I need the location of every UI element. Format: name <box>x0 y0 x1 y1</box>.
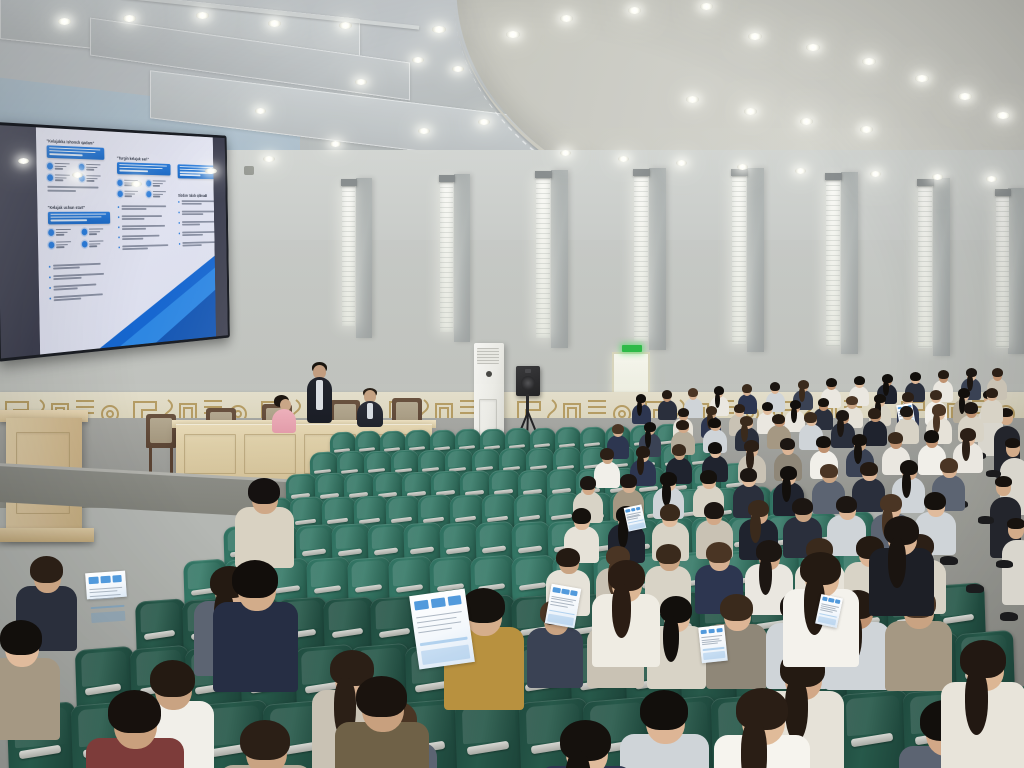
ceiling-downlight <box>560 150 571 156</box>
ceiling-downlight <box>748 33 762 40</box>
projection-display[interactable]: "Kelajakka ishonch qadam" "Kelajak uchun… <box>0 122 230 362</box>
wall-pier <box>454 174 470 342</box>
ac-control-knob[interactable] <box>486 371 492 377</box>
ceiling-downlight <box>255 108 266 114</box>
speaker-cone-icon <box>521 376 535 390</box>
window <box>732 176 746 344</box>
ceiling-downlight <box>676 160 687 166</box>
ceiling-downlight <box>700 3 713 10</box>
information-brochure <box>409 588 475 669</box>
presentation-slide: "Kelajakka ishonch qadam" "Kelajak uchun… <box>36 127 216 354</box>
shoe <box>1000 612 1018 621</box>
ceiling-downlight <box>263 156 275 162</box>
ceiling-downlight <box>996 112 1010 119</box>
ceiling-downlight <box>205 168 217 174</box>
shoe <box>940 556 958 565</box>
ceiling-downlight <box>958 93 972 100</box>
ceiling-downlight <box>560 15 573 22</box>
ceiling-downlight <box>932 174 943 180</box>
ceiling-downlight <box>506 31 520 38</box>
ceiling-downlight <box>412 57 424 63</box>
window-blind-header <box>535 171 552 178</box>
ceiling-downlight <box>330 141 341 147</box>
shoe <box>996 560 1013 568</box>
shoe <box>986 470 1001 477</box>
wall-pier <box>747 168 764 352</box>
slide-callout-box <box>47 145 105 160</box>
window-blind-header <box>341 179 357 186</box>
display-bezel: "Kelajakka ishonch qadam" "Kelajak uchun… <box>0 122 230 362</box>
ceiling-downlight <box>123 15 136 22</box>
ceiling-downlight <box>355 79 367 85</box>
ceiling-downlight <box>800 118 813 125</box>
ceiling-downlight <box>862 58 876 65</box>
display-panel: "Kelajakka ishonch qadam" "Kelajak uchun… <box>0 125 228 359</box>
ceiling-downlight <box>452 66 464 72</box>
ceiling-downlight <box>131 181 142 187</box>
slide-callout-box <box>48 212 110 225</box>
wall-pier <box>551 170 568 348</box>
information-brochure <box>698 625 728 664</box>
window-blind-header <box>917 179 934 186</box>
exit-sign-icon <box>622 345 642 352</box>
ceiling-downlight <box>196 12 209 19</box>
window <box>342 186 355 326</box>
wall-pier <box>1008 188 1024 354</box>
ceiling-downlight <box>860 126 873 133</box>
pa-speaker <box>516 366 540 396</box>
shoe <box>978 516 994 524</box>
ceiling-downlight <box>737 164 748 170</box>
slide-section-heading: "Kelajakka ishonch qadam" <box>46 138 94 145</box>
ceiling-downlight <box>418 128 430 134</box>
ceiling-downlight <box>744 108 757 115</box>
slide-corner-graphic <box>98 256 216 349</box>
information-brochure <box>85 571 127 600</box>
slide-callout-box <box>117 162 171 175</box>
ceiling-downlight <box>618 156 629 162</box>
ceiling-downlight <box>432 26 446 33</box>
slide-section-heading: "Turgin kelajak sari" <box>117 156 149 162</box>
window <box>918 186 932 348</box>
ceiling-downlight <box>986 176 997 182</box>
ceiling-downlight <box>339 22 352 29</box>
ceiling-downlight <box>915 75 929 82</box>
wall-pier <box>841 172 858 354</box>
window-blind-header <box>439 175 455 182</box>
auditorium-photo: "Kelajakka ishonch qadam" "Kelajak uchun… <box>0 0 1024 768</box>
ceiling-downlight <box>806 44 820 51</box>
window <box>634 176 648 341</box>
window-blind-header <box>731 169 748 176</box>
window <box>826 180 840 346</box>
screen-wall-mount <box>244 166 254 175</box>
slide-section-heading: Sizdan talab qilinadi <box>178 193 207 198</box>
podium-base <box>0 528 94 542</box>
ceiling-downlight <box>795 168 806 174</box>
ceiling-downlight <box>268 20 281 27</box>
window <box>996 196 1009 348</box>
speaker-tweeter-icon <box>525 369 531 373</box>
ceiling-downlight <box>18 158 29 164</box>
window-blind-header <box>825 173 842 180</box>
window-blind-header <box>995 189 1011 196</box>
window <box>536 178 550 338</box>
ceiling-downlight <box>478 119 490 125</box>
ceiling-downlight <box>686 96 699 103</box>
ceiling-downlight <box>628 7 641 14</box>
ceiling-downlight <box>870 171 881 177</box>
ceiling-downlight <box>58 18 71 25</box>
window-blind-header <box>633 169 650 176</box>
wall-pier <box>933 178 950 356</box>
slide-section-heading: "Kelajak uchun start" <box>48 205 85 210</box>
ac-grille-icon <box>477 348 499 364</box>
window <box>440 182 453 332</box>
wall-pier <box>356 178 372 338</box>
shoe <box>966 584 984 593</box>
ceiling-downlight <box>72 172 83 178</box>
wall-pier <box>649 168 666 350</box>
